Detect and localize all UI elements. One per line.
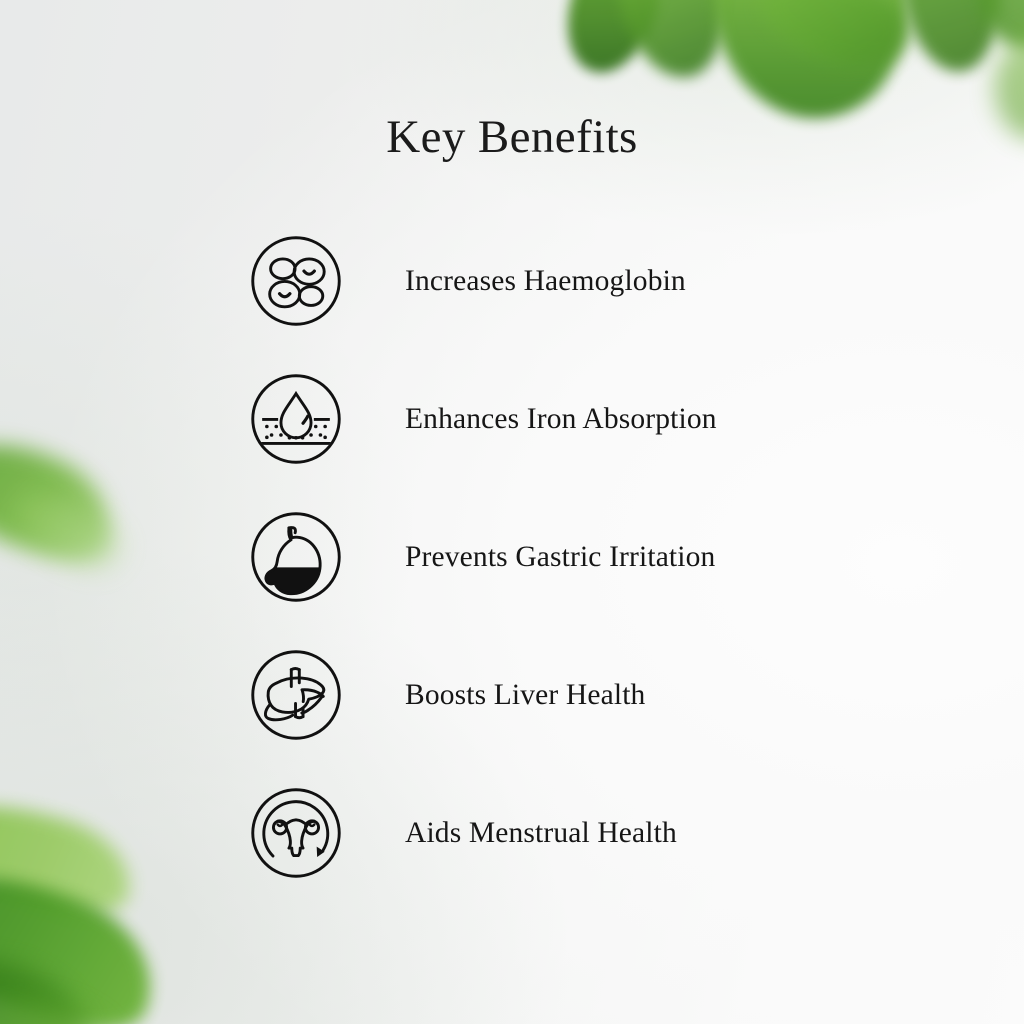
benefits-list: Increases Haemoglobin <box>249 234 949 880</box>
poster-content: Key Benefits Increases Haemoglobin <box>0 0 1024 1024</box>
uterus-cycle-icon <box>249 786 343 880</box>
blood-cells-icon <box>249 234 343 328</box>
benefit-label: Enhances Iron Absorption <box>405 403 717 436</box>
stomach-icon <box>249 510 343 604</box>
list-item: Enhances Iron Absorption <box>249 372 949 466</box>
liver-icon <box>249 648 343 742</box>
benefit-label: Aids Menstrual Health <box>405 817 677 850</box>
benefit-label: Increases Haemoglobin <box>405 265 686 298</box>
list-item: Boosts Liver Health <box>249 648 949 742</box>
benefit-label: Prevents Gastric Irritation <box>405 541 715 574</box>
key-benefits-poster: Key Benefits Increases Haemoglobin <box>0 0 1024 1024</box>
benefit-label: Boosts Liver Health <box>405 679 645 712</box>
list-item: Prevents Gastric Irritation <box>249 510 949 604</box>
list-item: Increases Haemoglobin <box>249 234 949 328</box>
page-title: Key Benefits <box>0 110 1024 164</box>
list-item: Aids Menstrual Health <box>249 786 949 880</box>
droplet-absorption-icon <box>249 372 343 466</box>
